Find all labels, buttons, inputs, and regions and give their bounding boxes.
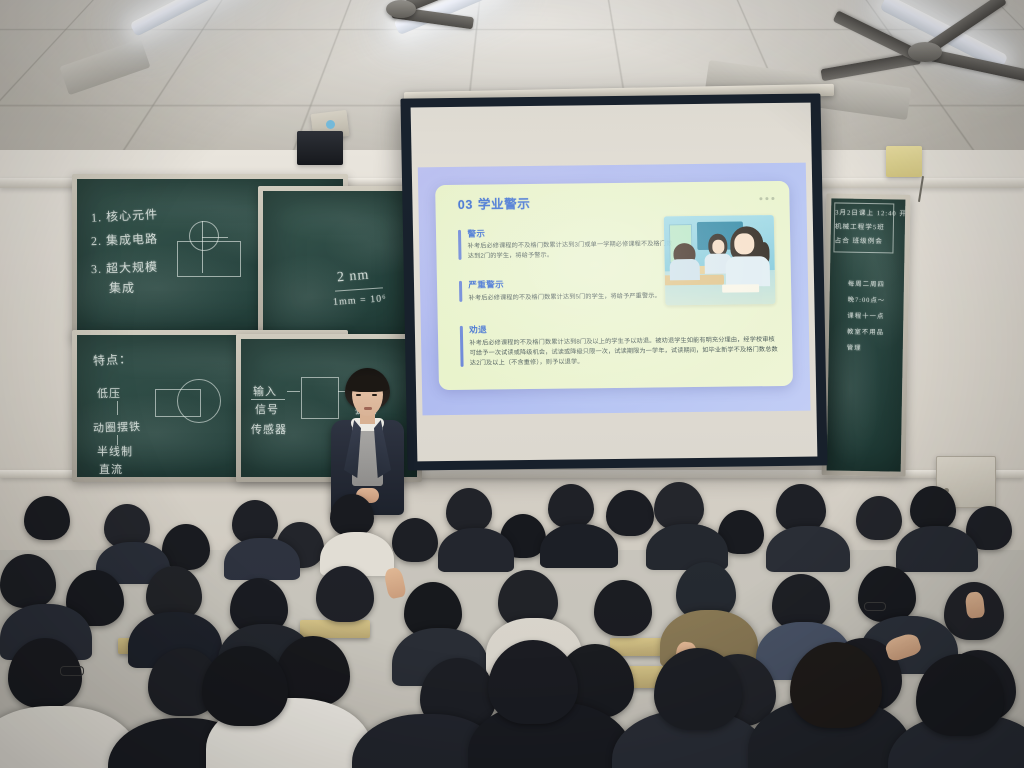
section-heading: 劝退 (469, 320, 780, 336)
chalk-note: 3. 超大规模 (91, 258, 159, 277)
audience-head (594, 580, 652, 636)
audience-shoulders (224, 538, 300, 580)
section-body: 补考后必修课程的不及格门数累计达到8门及以上的学生予以劝退。被劝退学生如能有明充… (469, 335, 780, 369)
presenter-mouth (364, 407, 372, 410)
audience-shoulders (896, 526, 978, 572)
dot-icon (766, 197, 769, 200)
slide-content-card: 03学业警示 警示 补考后必修课程的不及格门数累计达到3门或单一学期必修课程不及… (436, 180, 793, 390)
projection-screen[interactable]: 03学业警示 警示 补考后必修课程的不及格门数累计达到3门或单一学期必修课程不及… (400, 93, 827, 470)
speaker-indicator-icon (326, 120, 335, 129)
section-heading: 严重警示 (468, 276, 673, 290)
slide-title-text: 学业警示 (478, 197, 531, 212)
presentation-slide: 03学业警示 警示 补考后必修课程的不及格门数累计达到3门或单一学期必修课程不及… (418, 163, 811, 415)
chalk-note: 1. 核心元件 (91, 205, 159, 225)
chalk-arrow (117, 435, 118, 445)
audience-head (910, 486, 956, 530)
chalk-smear (263, 191, 415, 343)
illus-student-body (669, 259, 700, 281)
chalk-note: 信号 (255, 401, 279, 417)
chalk-diagram-line (202, 221, 203, 273)
chalk-note: 输入 (253, 383, 277, 399)
chalk-note: 低压 (97, 385, 121, 401)
dot-icon (772, 197, 775, 200)
illus-student-body (726, 256, 770, 287)
slide-number: 03 (458, 197, 473, 211)
audience-head (606, 490, 654, 536)
chalk-note: 特点： (93, 350, 133, 369)
illus-student-face (713, 240, 725, 253)
chalk-note: 晚7:00点～ (848, 295, 886, 305)
illus-paper (722, 285, 759, 293)
chalk-note: 动圈摆铁 (93, 418, 142, 436)
chalk-note: 2. 集成电路 (91, 230, 159, 249)
illus-student-face (734, 233, 754, 254)
yellow-utility-box (886, 146, 922, 177)
audience-head (446, 488, 492, 532)
audience-head (548, 484, 594, 528)
chalk-diagram-loop (177, 379, 221, 423)
audience-head (776, 484, 826, 532)
dot-icon (760, 197, 763, 200)
section-body: 补考后必修课程的不及格门数累计达到3门或单一学期必修课程不及格门数达到2门的学生… (468, 239, 673, 262)
chalk-note: 课程十一点 (847, 311, 884, 321)
slide-section-withdrawal: 劝退 补考后必修课程的不及格门数累计达到8门及以上的学生予以劝退。被劝退学生如能… (460, 320, 781, 369)
audience-head (330, 494, 374, 536)
chalk-notice-box (833, 202, 894, 253)
blackboard-right: 3月2日课上 12:40 开始 机械工程学5班 占合 班级例会 每周二周四 晚7… (822, 193, 911, 476)
audience-glasses-icon (60, 666, 84, 676)
slide-title: 03学业警示 (458, 193, 531, 213)
section-heading: 警示 (467, 225, 672, 239)
chalk-note: 集成 (109, 279, 135, 296)
audience-head (0, 554, 56, 608)
classroom-photo: 1. 核心元件 2. 集成电路 3. 超大规模 集成 2 nm 1mm = 10… (0, 0, 1024, 768)
audience-hand (383, 566, 407, 599)
audience-shoulders (766, 526, 850, 572)
blackboard-surface: 2 nm 1mm = 10⁶ (263, 191, 415, 343)
chalk-diagram-line (202, 237, 228, 238)
slide-section-warning: 警示 补考后必修课程的不及格门数累计达到3门或单一学期必修课程不及格门数达到2门… (458, 225, 672, 262)
audience-head (24, 496, 70, 540)
wall-speaker-unit (297, 131, 343, 165)
audience-shoulders (438, 528, 514, 572)
chalk-arrow (117, 401, 118, 415)
screen-surface: 03学业警示 警示 补考后必修课程的不及格门数累计达到3门或单一学期必修课程不及… (411, 103, 818, 462)
audience-shoulders (540, 524, 618, 568)
chalk-note: 管理 (847, 343, 862, 352)
audience-head (856, 496, 902, 540)
blackboard-center-upper: 2 nm 1mm = 10⁶ (258, 186, 420, 348)
section-body: 补考后必修课程的不及格门数累计达到5门的学生，将给予严重警示。 (469, 291, 674, 304)
audience-head (654, 482, 704, 530)
blackboard-surface: 3月2日课上 12:40 开始 机械工程学5班 占合 班级例会 每周二周四 晚7… (827, 198, 906, 471)
chalk-note: 教室不用品 (847, 327, 884, 337)
audience-glasses-icon (864, 602, 886, 611)
seated-student-audience (0, 470, 1024, 768)
chalk-arrow (287, 391, 300, 392)
chalk-note: 传感器 (251, 421, 287, 437)
chalk-note: 半线制 (97, 443, 133, 459)
chalk-note: 2 nm (336, 268, 370, 287)
slide-dots-indicator (760, 197, 775, 200)
students-at-desks-illustration (664, 216, 775, 306)
slide-section-serious-warning: 严重警示 补考后必修课程的不及格门数累计达到5门的学生，将给予严重警示。 (459, 276, 673, 303)
audience-head (316, 566, 374, 622)
audience-head (858, 566, 916, 622)
chalk-note: 每周二周四 (848, 279, 885, 289)
audience-head (392, 518, 438, 562)
chalk-diagram-circle (189, 221, 219, 251)
